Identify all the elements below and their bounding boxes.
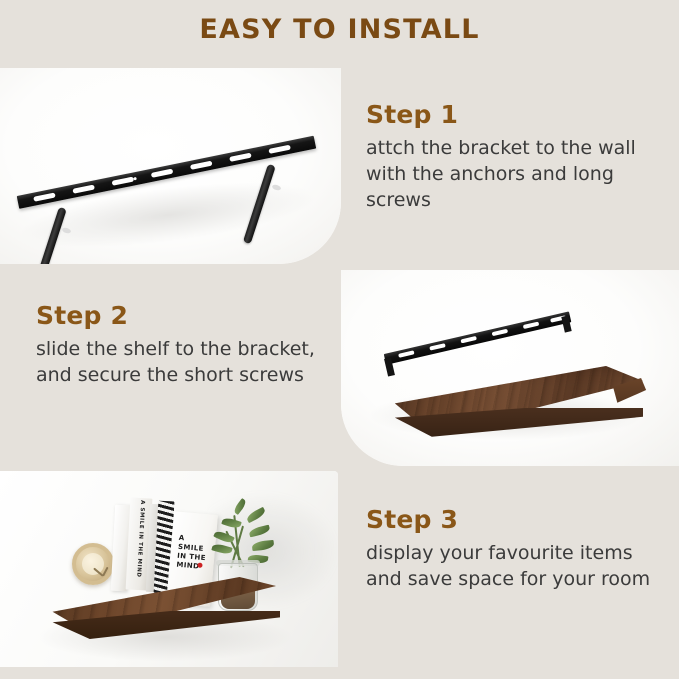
bracket-slot (429, 343, 445, 350)
step-1-body: attch the bracket to the wall with the a… (366, 135, 666, 213)
shelf-bracket (384, 311, 572, 364)
clock-face (82, 553, 104, 575)
bracket-slot (398, 350, 414, 357)
styled-shelf-photo: A SMILE IN THE MIND A SMILE IN THE MIND (0, 471, 338, 667)
bracket-photo (0, 68, 341, 264)
bracket-slot (190, 161, 213, 170)
bracket-slot (523, 322, 539, 329)
step-3-image-panel: A SMILE IN THE MIND A SMILE IN THE MIND (0, 471, 338, 667)
page-title: EASY TO INSTALL (0, 14, 679, 45)
bracket-slot (460, 336, 476, 343)
infographic-canvas: EASY TO INSTALL Step 1 attch the brac (0, 0, 679, 679)
shelf-with-bracket-photo (341, 270, 679, 466)
step-3-heading: Step 3 (366, 505, 671, 534)
book-spine-title: A SMILE IN THE MIND (136, 500, 146, 570)
step-3-text: Step 3 display your favourite items and … (366, 505, 671, 592)
step-2-body: slide the shelf to the bracket, and secu… (36, 336, 336, 388)
bracket-slot (112, 177, 135, 186)
step-2-heading: Step 2 (36, 301, 336, 330)
step-1-heading: Step 1 (366, 100, 666, 129)
step-1-text: Step 1 attch the bracket to the wall wit… (366, 100, 666, 213)
bracket-hole (133, 177, 137, 181)
clock-minute-hand (93, 568, 103, 577)
bracket-slot (72, 184, 95, 193)
step-1-image-panel (0, 68, 341, 264)
bracket-slot (492, 329, 508, 336)
step-3-body: display your favourite items and save sp… (366, 540, 671, 592)
step-2-image-panel (341, 270, 679, 466)
book-cover-title: A SMILE IN THE MIND (176, 534, 211, 573)
bracket-slot (229, 153, 252, 162)
step-2-text: Step 2 slide the shelf to the bracket, a… (36, 301, 336, 388)
bracket-slot (268, 145, 291, 154)
clock-decor (72, 543, 114, 585)
bracket-slot (151, 169, 174, 178)
bracket-slot (33, 192, 56, 201)
